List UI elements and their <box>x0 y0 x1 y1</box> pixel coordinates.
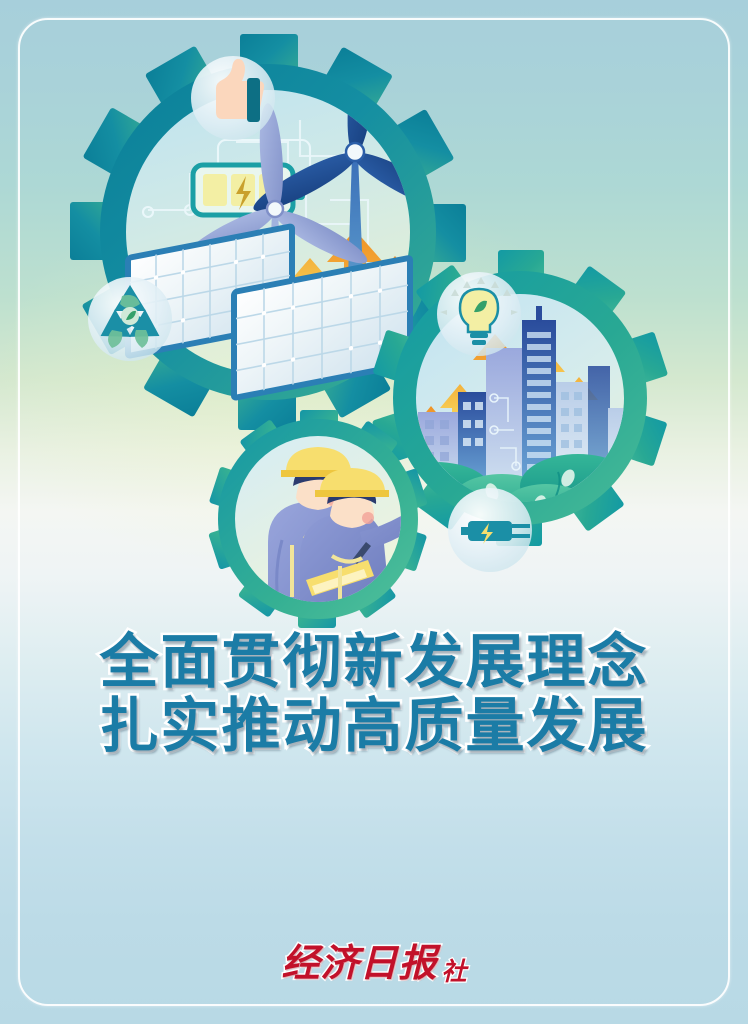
logo-suffix: 社 <box>442 957 467 986</box>
lightbulb-badge <box>437 272 521 356</box>
plug-badge <box>448 488 532 572</box>
headline-line-1: 全面贯彻新发展理念 <box>0 630 748 694</box>
thumbs-up-badge <box>191 56 275 140</box>
illustration <box>0 0 748 660</box>
recycle-badge <box>88 277 172 361</box>
poster-headline: 全面贯彻新发展理念 扎实推动高质量发展 <box>0 630 748 757</box>
logo-text: 经济日报 <box>281 940 437 985</box>
poster-canvas: 全面贯彻新发展理念 扎实推动高质量发展 经济日报社 <box>0 0 748 1024</box>
publisher-logo: 经济日报社 <box>0 932 748 987</box>
headline-line-2: 扎实推动高质量发展 <box>0 694 748 758</box>
